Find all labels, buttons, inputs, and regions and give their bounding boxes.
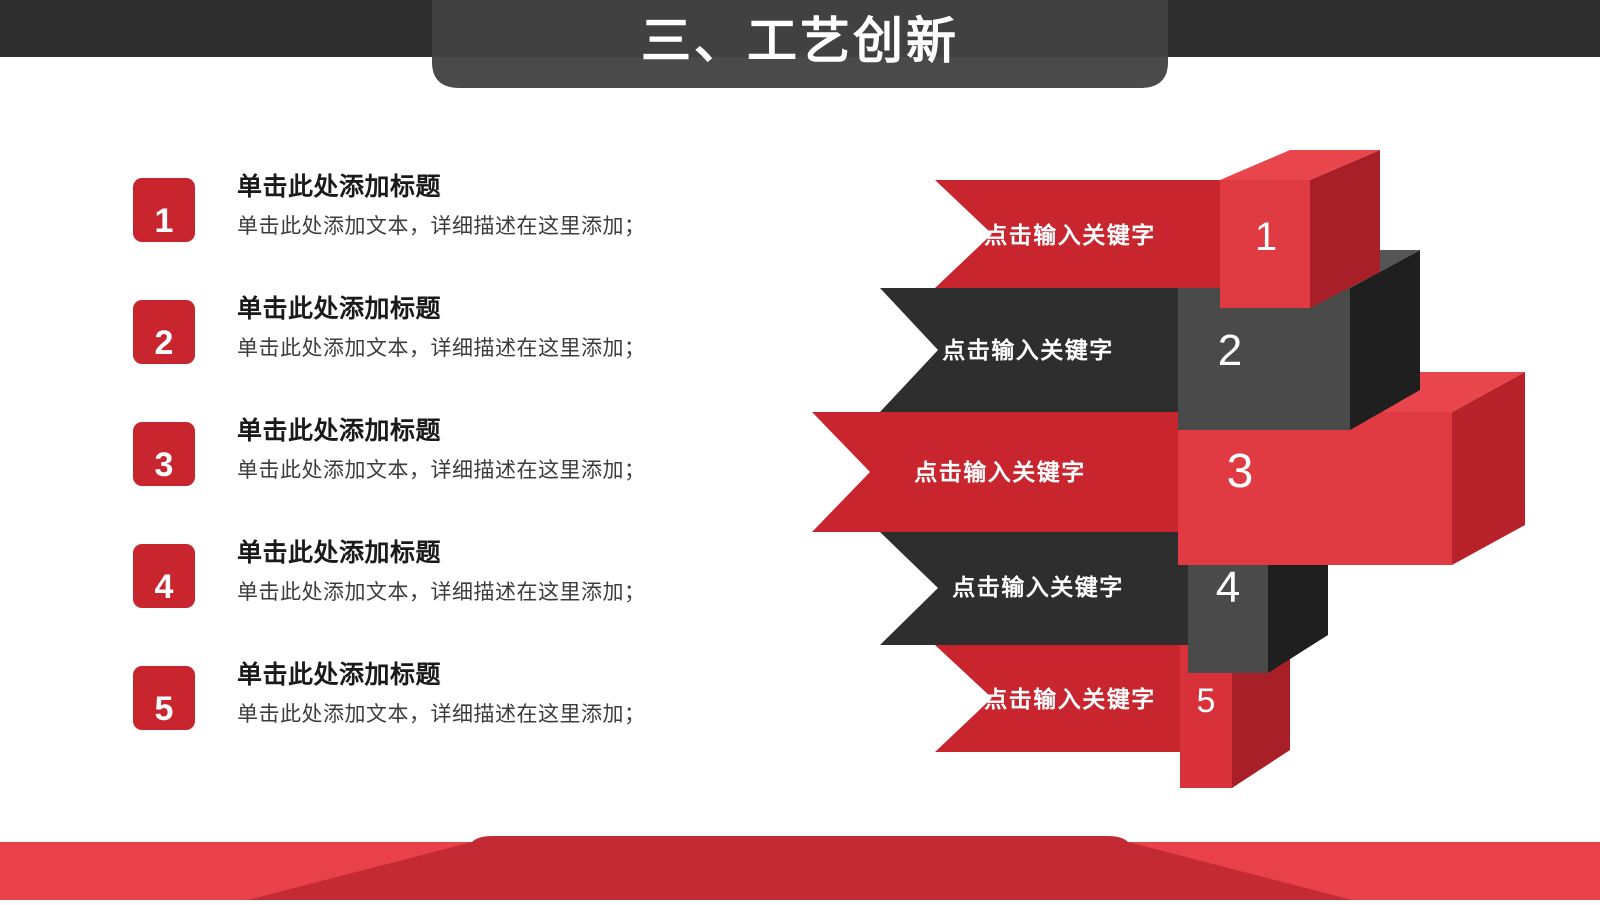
list-item-title: 单击此处添加标题 [237,536,757,570]
header-banner-overlap [432,0,1168,57]
list-item-desc: 单击此处添加文本，详细描述在这里添加； [237,211,757,243]
list-item-desc: 单击此处添加文本，详细描述在这里添加； [237,577,757,609]
list-item-title: 单击此处添加标题 [237,170,757,204]
list-item-badge: 1 [133,178,195,242]
chevron-arrow-1[interactable]: 点击输入关键字 1 [935,150,1380,308]
chevron-diagram: 点击输入关键字 5 点击输入关键字 4 点击输入关键字 3 点击输入关键字 2 … [780,140,1560,800]
list-item-desc: 单击此处添加文本，详细描述在这里添加； [237,455,757,487]
list-item-desc: 单击此处添加文本，详细描述在这里添加； [237,333,757,365]
list-item-badge: 5 [133,666,195,730]
list-item-text: 单击此处添加标题 单击此处添加文本，详细描述在这里添加； [237,414,757,487]
list-item[interactable]: 3 单击此处添加标题 单击此处添加文本，详细描述在这里添加； [133,414,773,536]
list-item[interactable]: 1 单击此处添加标题 单击此处添加文本，详细描述在这里添加； [133,170,773,292]
list-item-badge: 4 [133,544,195,608]
list-item-title: 单击此处添加标题 [237,658,757,692]
list-item-text: 单击此处添加标题 单击此处添加文本，详细描述在这里添加； [237,658,757,731]
chevron-1-number: 1 [1255,215,1277,259]
chevron-3-label: 点击输入关键字 [914,459,1086,485]
chevron-diagram-svg: 点击输入关键字 5 点击输入关键字 4 点击输入关键字 3 点击输入关键字 2 … [780,140,1560,800]
list-item-text: 单击此处添加标题 单击此处添加文本，详细描述在这里添加； [237,292,757,365]
chevron-2-label: 点击输入关键字 [942,337,1114,363]
chevron-4-label: 点击输入关键字 [952,574,1124,600]
list-item[interactable]: 5 单击此处添加标题 单击此处添加文本，详细描述在这里添加； [133,658,773,780]
header-shape [0,0,1600,110]
list-item-badge: 3 [133,422,195,486]
chevron-5-number: 5 [1197,682,1216,720]
chevron-1-label: 点击输入关键字 [984,222,1156,248]
chevron-2-number-panel [1178,288,1350,430]
footer-shape [0,836,1600,900]
page-footer [0,836,1600,900]
list-item-text: 单击此处添加标题 单击此处添加文本，详细描述在这里添加； [237,536,757,609]
list-item-title: 单击此处添加标题 [237,292,757,326]
chevron-4-number: 4 [1216,563,1240,612]
chevron-2-number: 2 [1218,326,1242,375]
list-item-badge: 2 [133,300,195,364]
feature-list: 1 单击此处添加标题 单击此处添加文本，详细描述在这里添加； 2 单击此处添加标… [133,170,773,780]
list-item[interactable]: 4 单击此处添加标题 单击此处添加文本，详细描述在这里添加； [133,536,773,658]
list-item-text: 单击此处添加标题 单击此处添加文本，详细描述在这里添加； [237,170,757,243]
list-item-title: 单击此处添加标题 [237,414,757,448]
list-item[interactable]: 2 单击此处添加标题 单击此处添加文本，详细描述在这里添加； [133,292,773,414]
list-item-desc: 单击此处添加文本，详细描述在这里添加； [237,699,757,731]
chevron-3-number-panel [1178,412,1452,565]
chevron-5-label: 点击输入关键字 [984,686,1156,712]
chevron-3-number: 3 [1227,445,1254,498]
page-header: 三、工艺创新 [0,0,1600,110]
